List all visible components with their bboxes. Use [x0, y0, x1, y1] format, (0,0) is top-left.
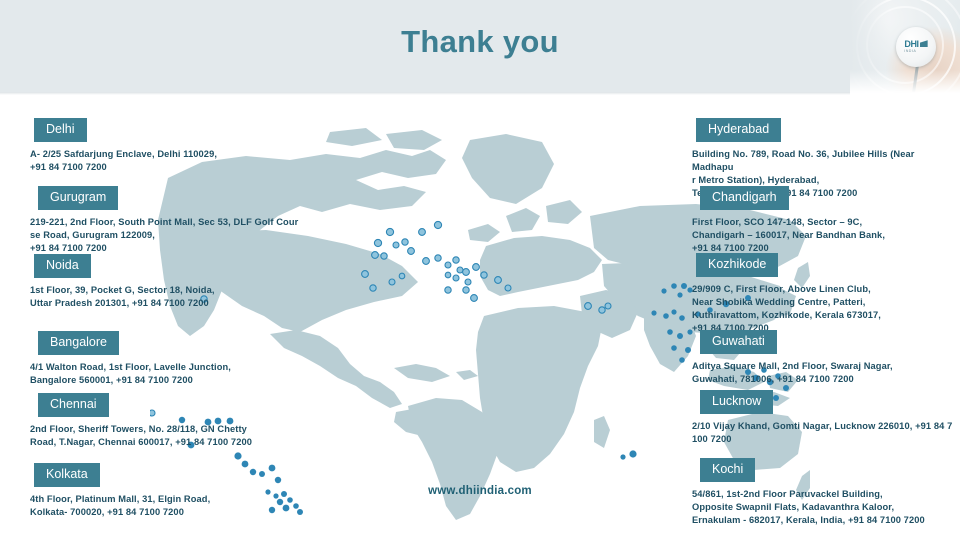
city-address-lucknow: 2/10 Vijay Khand, Gomti Nagar, Lucknow 2…: [692, 420, 952, 446]
contact-block-kochi: Kochi54/861, 1st-2nd Floor Paruvackel Bu…: [692, 458, 925, 527]
contact-block-noida: Noida1st Floor, 39, Pocket G, Sector 18,…: [30, 254, 215, 310]
dhi-logo-subtext: INDIA: [904, 50, 927, 53]
city-badge-noida[interactable]: Noida: [34, 254, 91, 278]
contact-block-bangalore: Bangalore4/1 Walton Road, 1st Floor, Lav…: [30, 331, 231, 387]
city-badge-kolkata[interactable]: Kolkata: [34, 463, 100, 487]
page-title: Thank you: [0, 24, 960, 60]
contact-block-lucknow: Lucknow2/10 Vijay Khand, Gomti Nagar, Lu…: [692, 390, 952, 446]
website-link[interactable]: www.dhiindia.com: [330, 485, 630, 497]
city-address-kolkata: 4th Floor, Platinum Mall, 31, Elgin Road…: [30, 493, 210, 519]
city-badge-lucknow[interactable]: Lucknow: [700, 390, 773, 414]
city-address-kochi: 54/861, 1st-2nd Floor Paruvackel Buildin…: [692, 488, 925, 528]
city-address-kozhikode: 29/909 C, First Floor, Above Linen Club,…: [692, 283, 881, 336]
photo-fade-bottom: [850, 70, 960, 96]
contact-block-gurugram: Gurugram219-221, 2nd Floor, South Point …: [30, 186, 298, 255]
city-badge-delhi[interactable]: Delhi: [34, 118, 87, 142]
contact-block-chennai: Chennai2nd Floor, Sheriff Towers, No. 28…: [30, 393, 252, 449]
stethoscope-photo: DHI INDIA: [850, 0, 960, 96]
city-address-bangalore: 4/1 Walton Road, 1st Floor, Lavelle Junc…: [30, 361, 231, 387]
dhi-logo-text: DHI: [904, 39, 918, 49]
city-badge-chennai[interactable]: Chennai: [38, 393, 109, 417]
city-badge-bangalore[interactable]: Bangalore: [38, 331, 119, 355]
city-address-chandigarh: First Floor, SCO 147-148, Sector – 9C, C…: [692, 216, 885, 256]
city-badge-chandigarh[interactable]: Chandigarh: [700, 186, 789, 210]
header-band-shadow: [0, 92, 960, 95]
slide-root: Thank you DHI INDIA: [0, 0, 960, 540]
dhi-logo: DHI INDIA: [904, 40, 927, 53]
city-badge-hyderabad[interactable]: Hyderabad: [696, 118, 781, 142]
contact-block-kozhikode: Kozhikode29/909 C, First Floor, Above Li…: [692, 253, 881, 335]
city-address-delhi: A- 2/25 Safdarjung Enclave, Delhi 110029…: [30, 148, 217, 174]
city-badge-kozhikode[interactable]: Kozhikode: [696, 253, 778, 277]
city-address-guwahati: Aditya Square Mall, 2nd Floor, Swaraj Na…: [692, 360, 893, 386]
city-badge-guwahati[interactable]: Guwahati: [700, 330, 777, 354]
dhi-logo-badge: DHI INDIA: [896, 27, 936, 67]
contact-block-chandigarh: ChandigarhFirst Floor, SCO 147-148, Sect…: [692, 186, 885, 255]
city-address-chennai: 2nd Floor, Sheriff Towers, No. 28/118, G…: [30, 423, 252, 449]
city-badge-kochi[interactable]: Kochi: [700, 458, 755, 482]
city-address-gurugram: 219-221, 2nd Floor, South Point Mall, Se…: [30, 216, 298, 256]
dhi-logo-mark: [920, 40, 928, 47]
contact-block-delhi: DelhiA- 2/25 Safdarjung Enclave, Delhi 1…: [30, 118, 217, 174]
contact-block-guwahati: GuwahatiAditya Square Mall, 2nd Floor, S…: [692, 330, 893, 386]
contact-block-kolkata: Kolkata4th Floor, Platinum Mall, 31, Elg…: [30, 463, 210, 519]
city-badge-gurugram[interactable]: Gurugram: [38, 186, 118, 210]
city-address-noida: 1st Floor, 39, Pocket G, Sector 18, Noid…: [30, 284, 215, 310]
